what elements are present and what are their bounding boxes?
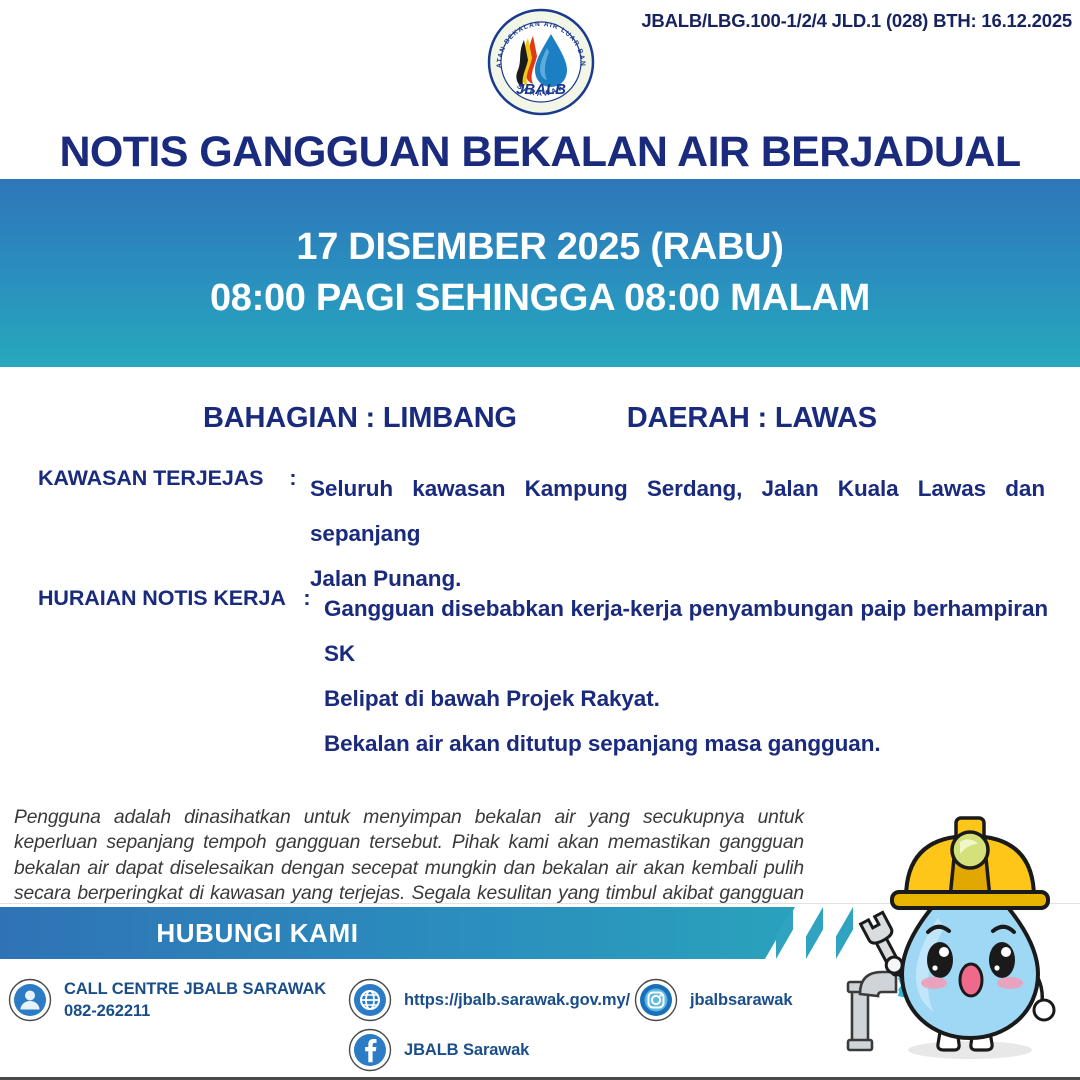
date-banner: 17 DISEMBER 2025 (RABU) 08:00 PAGI SEHIN… [0, 179, 1080, 367]
contact-facebook-text: JBALB Sarawak [404, 1039, 529, 1061]
work-description-label: HURAIAN NOTIS KERJA [38, 586, 290, 766]
contact-call-centre[interactable]: CALL CENTRE JBALB SARAWAK 082-262211 [8, 978, 326, 1023]
daerah-label: DAERAH : LAWAS [627, 402, 877, 435]
bahagian-label: BAHAGIAN : LIMBANG [203, 402, 517, 435]
reference-number: JBALB/LBG.100-1/2/4 JLD.1 (028) BTH: 16.… [641, 10, 1072, 32]
page-title: NOTIS GANGGUAN BEKALAN AIR BERJADUAL [0, 128, 1080, 177]
notice-poster: JBALB/LBG.100-1/2/4 JLD.1 (028) BTH: 16.… [0, 0, 1080, 1080]
contact-instagram-text: jbalbsarawak [690, 989, 792, 1011]
jbalb-logo: JBALB JABATAN BEKALAN AIR LUAR BANDAR SA… [487, 8, 595, 116]
decorative-stripe-2 [806, 907, 823, 959]
work-description-colon: : [290, 586, 324, 766]
affected-area-colon: : [276, 466, 310, 601]
contact-bar-title: HUBUNGI KAMI [156, 918, 638, 949]
contact-call-centre-text: CALL CENTRE JBALB SARAWAK 082-262211 [64, 978, 326, 1023]
contact-bar: HUBUNGI KAMI [0, 907, 795, 959]
facebook-icon [348, 1028, 392, 1072]
contact-facebook[interactable]: JBALB Sarawak [348, 1028, 529, 1072]
banner-time-line: 08:00 PAGI SEHINGGA 08:00 MALAM [210, 273, 870, 324]
work-description-line-3: Bekalan air akan ditutup sepanjang masa … [324, 721, 1048, 766]
region-row: BAHAGIAN : LIMBANG DAERAH : LAWAS [0, 402, 1080, 435]
water-droplet-worker-mascot [830, 788, 1080, 1073]
affected-area-label: KAWASAN TERJEJAS [38, 466, 276, 601]
person-icon [8, 978, 52, 1022]
affected-area-line-1: Seluruh kawasan Kampung Serdang, Jalan K… [310, 466, 1045, 556]
contact-website[interactable]: https://jbalb.sarawak.gov.my/ [348, 978, 630, 1022]
work-description-block: HURAIAN NOTIS KERJA : Gangguan disebabka… [38, 586, 1048, 776]
contact-website-text: https://jbalb.sarawak.gov.my/ [404, 989, 630, 1011]
instagram-icon [634, 978, 678, 1022]
work-description-value: Gangguan disebabkan kerja-kerja penyambu… [324, 586, 1048, 766]
contact-instagram[interactable]: jbalbsarawak [634, 978, 792, 1022]
affected-area-value: Seluruh kawasan Kampung Serdang, Jalan K… [310, 466, 1045, 601]
banner-date-line: 17 DISEMBER 2025 (RABU) [296, 222, 783, 273]
work-description-line-2: Belipat di bawah Projek Rakyat. [324, 676, 1048, 721]
globe-icon [348, 978, 392, 1022]
work-description-line-1: Gangguan disebabkan kerja-kerja penyambu… [324, 586, 1048, 676]
